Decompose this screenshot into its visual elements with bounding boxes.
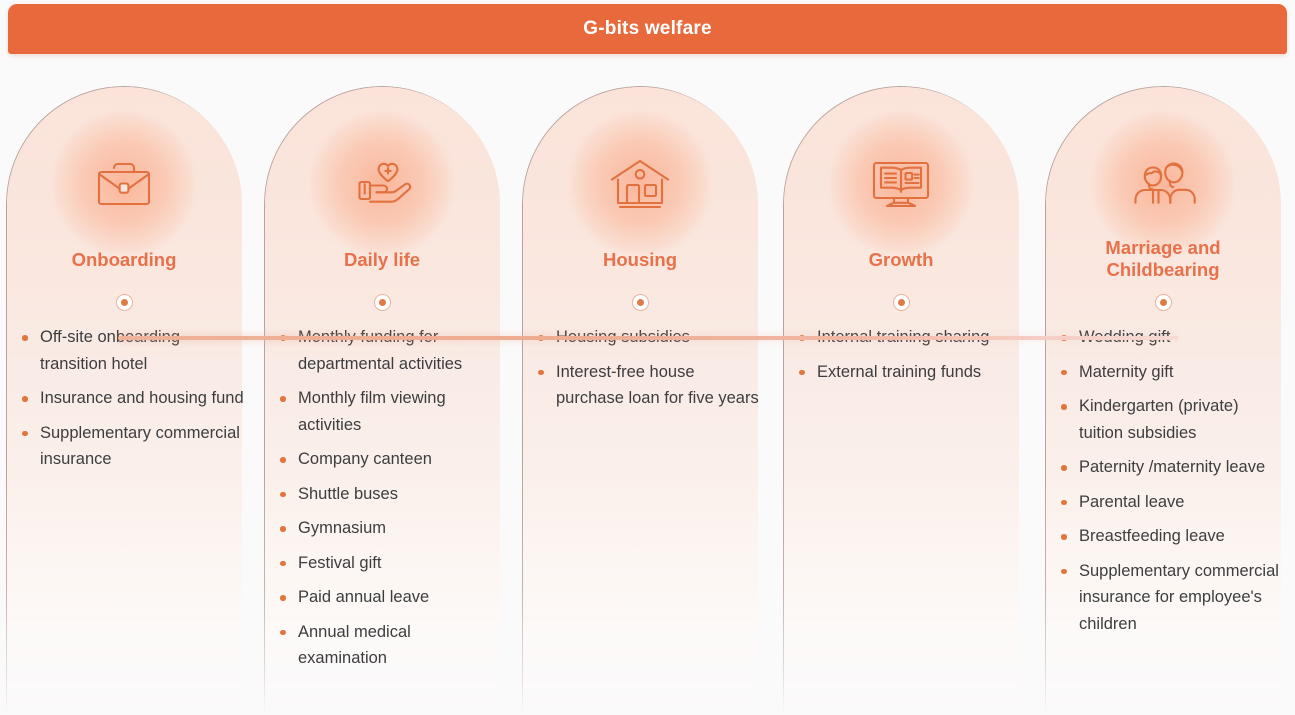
page-title: G-bits welfare [583,18,711,40]
benefit-list: Off-site onboarding transition hotel Ins… [14,324,246,481]
timeline-node [1155,294,1172,311]
benefit-list: Monthly funding for departmental activit… [272,324,504,680]
category-title: Growth [783,249,1019,271]
couple-icon [1129,150,1197,218]
timeline-node [893,294,910,311]
list-item: Supplementary commercial insurance for e… [1053,558,1285,638]
list-item: Parental leave [1053,489,1285,516]
list-item: Monthly funding for departmental activit… [272,324,504,377]
list-item: Interest-free house purchase loan for fi… [530,359,762,412]
briefcase-icon [90,150,158,218]
welfare-category-housing[interactable]: Housing Housing subsidies Interest-free … [522,86,776,715]
category-title-line1: Marriage and [1045,237,1281,259]
timeline-node [374,294,391,311]
infographic-page: G-bits welfare Onboarding Off-site on [0,0,1295,715]
list-item: Breastfeeding leave [1053,523,1285,550]
list-item: Paternity /maternity leave [1053,454,1285,481]
category-title-line2: Childbearing [1045,259,1281,281]
page-header-banner: G-bits welfare [8,4,1287,54]
timeline-node [116,294,133,311]
category-title: Onboarding [6,249,242,271]
benefit-list: Wedding gift Maternity gift Kindergarten… [1053,324,1285,645]
list-item: Festival gift [272,550,504,577]
welfare-category-marriage-and-childbearing[interactable]: Marriage and Childbearing Wedding gift M… [1045,86,1295,715]
list-item: Supplementary commercial insurance [14,420,246,473]
list-item: Off-site onboarding transition hotel [14,324,246,377]
monitor-book-learning-icon [867,150,935,218]
list-item: External training funds [791,359,1023,386]
welfare-category-onboarding[interactable]: Onboarding Off-site onboarding transitio… [6,86,260,715]
timeline-connector-line [118,336,1178,340]
list-item: Kindergarten (private) tuition subsidies [1053,393,1285,446]
category-title: Housing [522,249,758,271]
list-item: Company canteen [272,446,504,473]
hand-heart-care-icon [348,150,416,218]
house-icon [606,150,674,218]
list-item: Monthly film viewing activities [272,385,504,438]
category-title: Marriage and Childbearing [1045,237,1281,281]
category-title: Daily life [264,249,500,271]
list-item: Annual medical examination [272,619,504,672]
welfare-columns: Onboarding Off-site onboarding transitio… [0,60,1295,715]
list-item: Gymnasium [272,515,504,542]
welfare-category-daily-life[interactable]: Daily life Monthly funding for departmen… [264,86,518,715]
list-item: Shuttle buses [272,481,504,508]
list-item: Insurance and housing fund [14,385,246,412]
list-item: Paid annual leave [272,584,504,611]
list-item: Maternity gift [1053,359,1285,386]
timeline-node [632,294,649,311]
welfare-category-growth[interactable]: Growth Internal training sharing Externa… [783,86,1037,715]
